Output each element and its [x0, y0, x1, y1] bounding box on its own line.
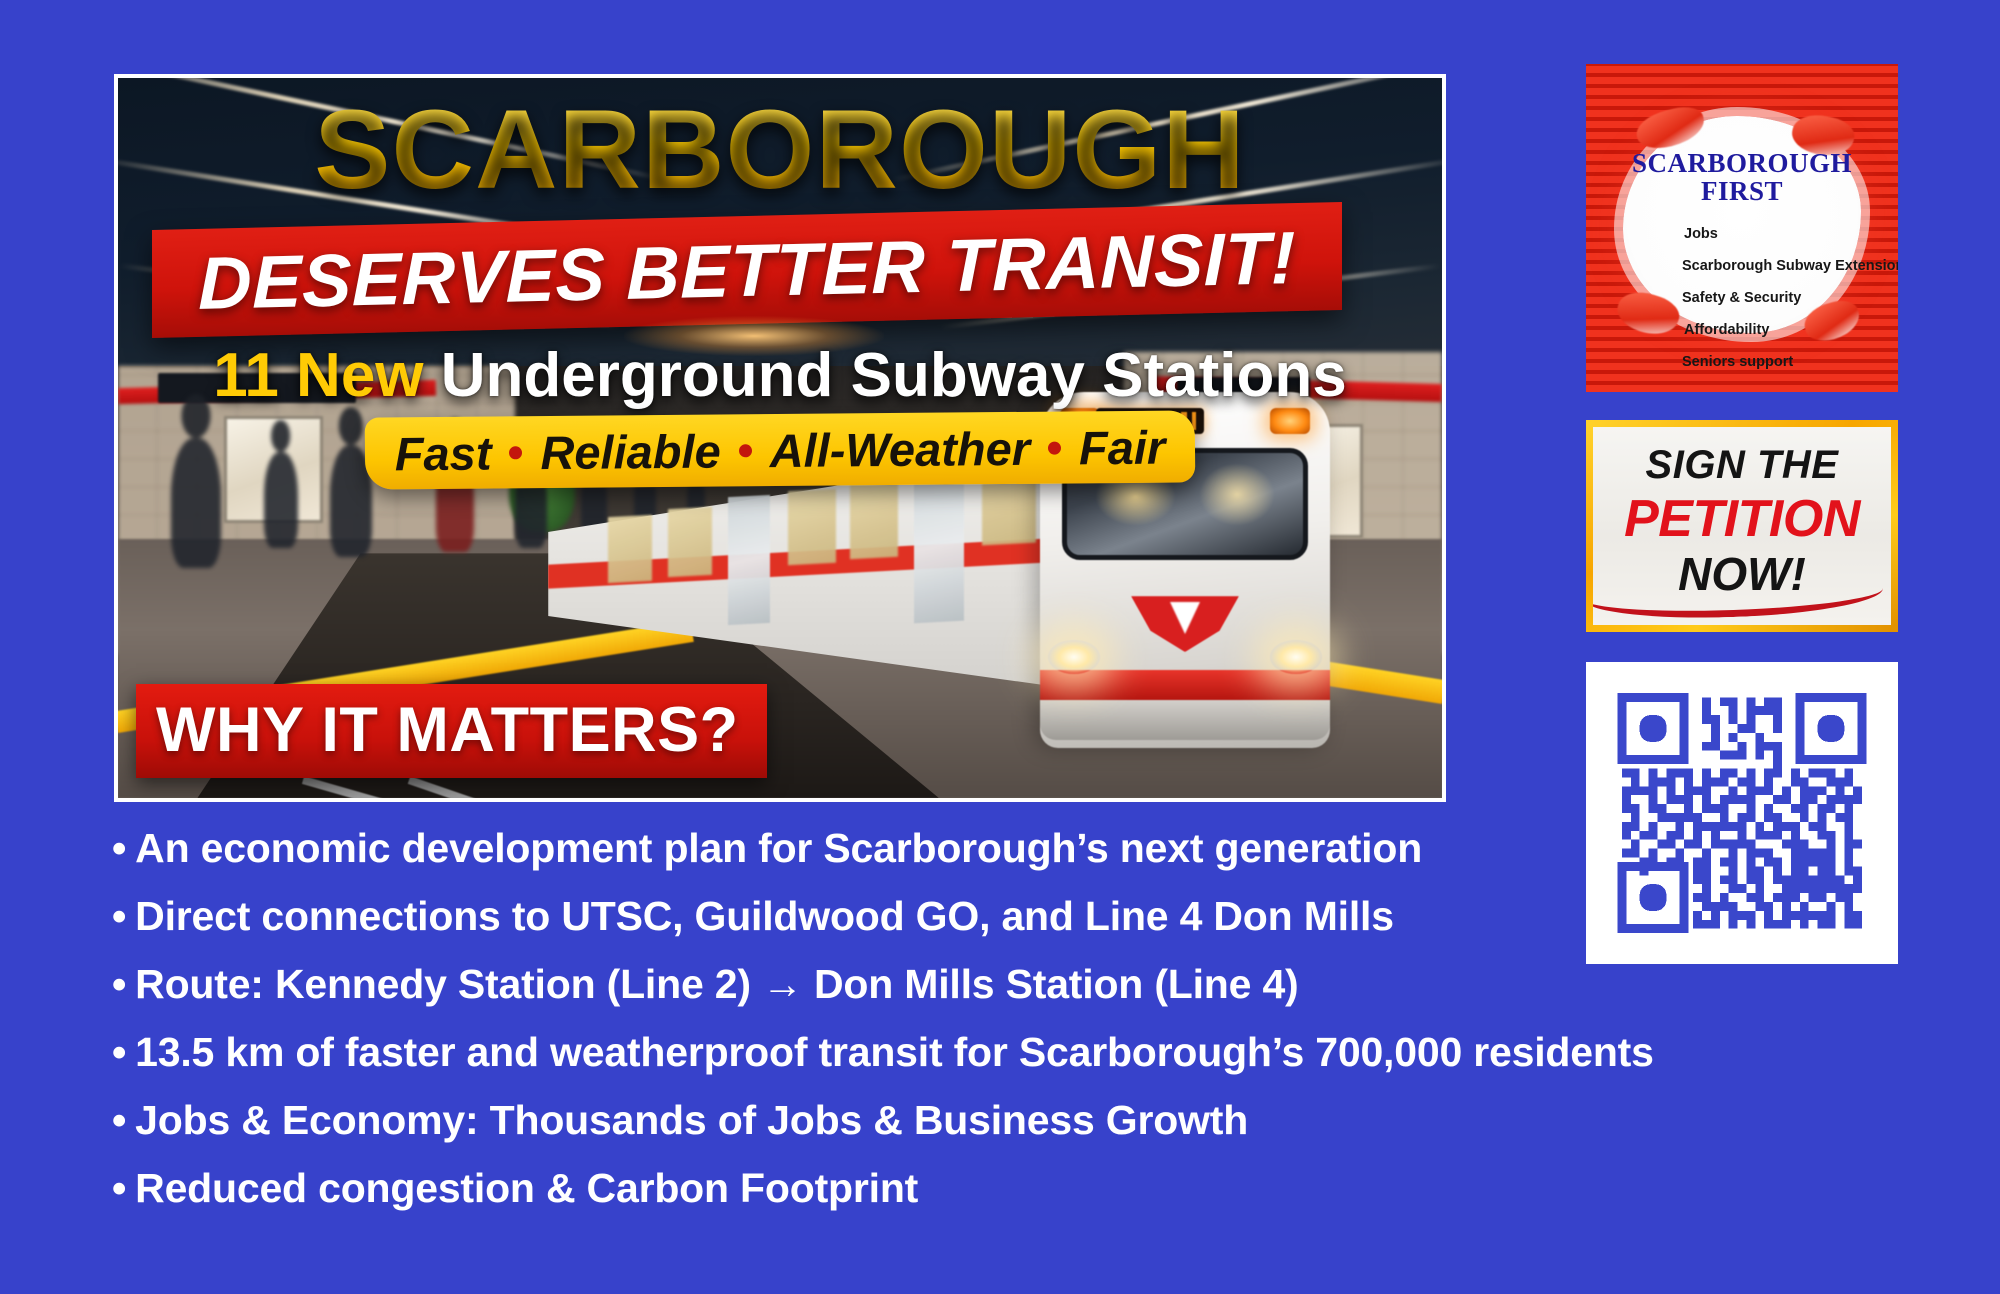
list-item: Safety & Security: [1682, 290, 1898, 306]
train-window: [668, 507, 712, 577]
train-window: [850, 481, 898, 560]
train-door: [914, 469, 964, 624]
transit-banner-image: SCARBOROUGH SCARBOROUGH DESERVES BETTER …: [114, 74, 1446, 802]
sign-petition-card[interactable]: SIGN THE PETITION NOW!: [1586, 420, 1898, 632]
list-item-text: Reduced congestion & Carbon Footprint: [135, 1165, 918, 1211]
benefit-item: All-Weather: [769, 420, 1030, 477]
separator-dot-icon: [739, 444, 752, 457]
list-item: Jobs: [1684, 226, 1898, 242]
list-item: Affordability: [1684, 322, 1898, 338]
train-front-skirt: [1040, 700, 1330, 740]
bullet-dot-icon: •: [112, 1097, 126, 1143]
key-points-list: •An economic development plan for Scarbo…: [112, 828, 1902, 1236]
list-item: •Direct connections to UTSC, Guildwood G…: [112, 896, 1902, 937]
list-item: •An economic development plan for Scarbo…: [112, 828, 1902, 869]
list-item-text: An economic development plan for Scarbor…: [135, 825, 1422, 871]
petition-swoosh-decoration: [1586, 565, 1884, 622]
separator-dot-icon: [509, 446, 522, 459]
banner-subheadline: 11 New Underground Subway Stations: [118, 340, 1442, 411]
logo-title: SCARBOROUGH FIRST: [1586, 150, 1898, 205]
commuter-silhouette: [264, 452, 298, 548]
petition-line-1: SIGN THE: [1593, 443, 1891, 488]
poster-root: SCARBOROUGH SCARBOROUGH DESERVES BETTER …: [0, 0, 2000, 1294]
list-item-text: Jobs & Economy: Thousands of Jobs & Busi…: [135, 1097, 1248, 1143]
why-it-matters-text: WHY IT MATTERS?: [156, 695, 739, 765]
logo-priority-list: Jobs Scarborough Subway Extension Safety…: [1644, 226, 1898, 386]
train-marker-lamp: [1270, 408, 1310, 434]
why-it-matters-banner: WHY IT MATTERS?: [136, 684, 767, 778]
list-item-text: 13.5 km of faster and weatherproof trans…: [135, 1029, 1654, 1075]
logo-title-line2: FIRST: [1586, 178, 1898, 206]
banner-headline: SCARBOROUGH: [114, 94, 1446, 206]
bullet-dot-icon: •: [112, 893, 126, 939]
bullet-dot-icon: •: [112, 1029, 126, 1075]
list-item: Scarborough Subway Extension: [1682, 258, 1898, 274]
train-window: [788, 489, 836, 566]
benefit-item: Fast: [395, 425, 492, 481]
train-headlight: [1270, 640, 1322, 674]
list-item-text: Direct connections to UTSC, Guildwood GO…: [135, 893, 1394, 939]
ttc-logo-icon: [1131, 596, 1239, 652]
commuter-silhouette: [171, 438, 221, 568]
list-item: Seniors support: [1682, 354, 1898, 370]
list-item: •Jobs & Economy: Thousands of Jobs & Bus…: [112, 1100, 1902, 1141]
scarborough-first-logo-card: SCARBOROUGH FIRST Jobs Scarborough Subwa…: [1586, 64, 1898, 392]
logo-title-line1: SCARBOROUGH: [1586, 150, 1898, 178]
list-item-text: Route: Kennedy Station (Line 2) → Don Mi…: [135, 961, 1298, 1007]
benefit-item: Fair: [1079, 419, 1166, 475]
petition-line-2: PETITION: [1593, 489, 1891, 549]
subhead-text: Underground Subway Stations: [441, 341, 1347, 410]
train-front-red-band: [1040, 670, 1330, 700]
bullet-dot-icon: •: [112, 1165, 126, 1211]
bullet-dot-icon: •: [112, 825, 126, 871]
train-headlight: [1048, 640, 1100, 674]
separator-dot-icon: [1048, 441, 1061, 454]
subhead-count: 11 New: [213, 341, 423, 410]
banner-benefits: Fast Reliable All-Weather Fair: [365, 410, 1196, 489]
train-window: [608, 515, 652, 583]
list-item: •13.5 km of faster and weatherproof tran…: [112, 1032, 1902, 1073]
list-item: •Route: Kennedy Station (Line 2) → Don M…: [112, 964, 1902, 1005]
benefit-item: Reliable: [540, 423, 721, 480]
list-item: •Reduced congestion & Carbon Footprint: [112, 1168, 1902, 1209]
train-door: [728, 495, 770, 625]
bullet-dot-icon: •: [112, 961, 126, 1007]
